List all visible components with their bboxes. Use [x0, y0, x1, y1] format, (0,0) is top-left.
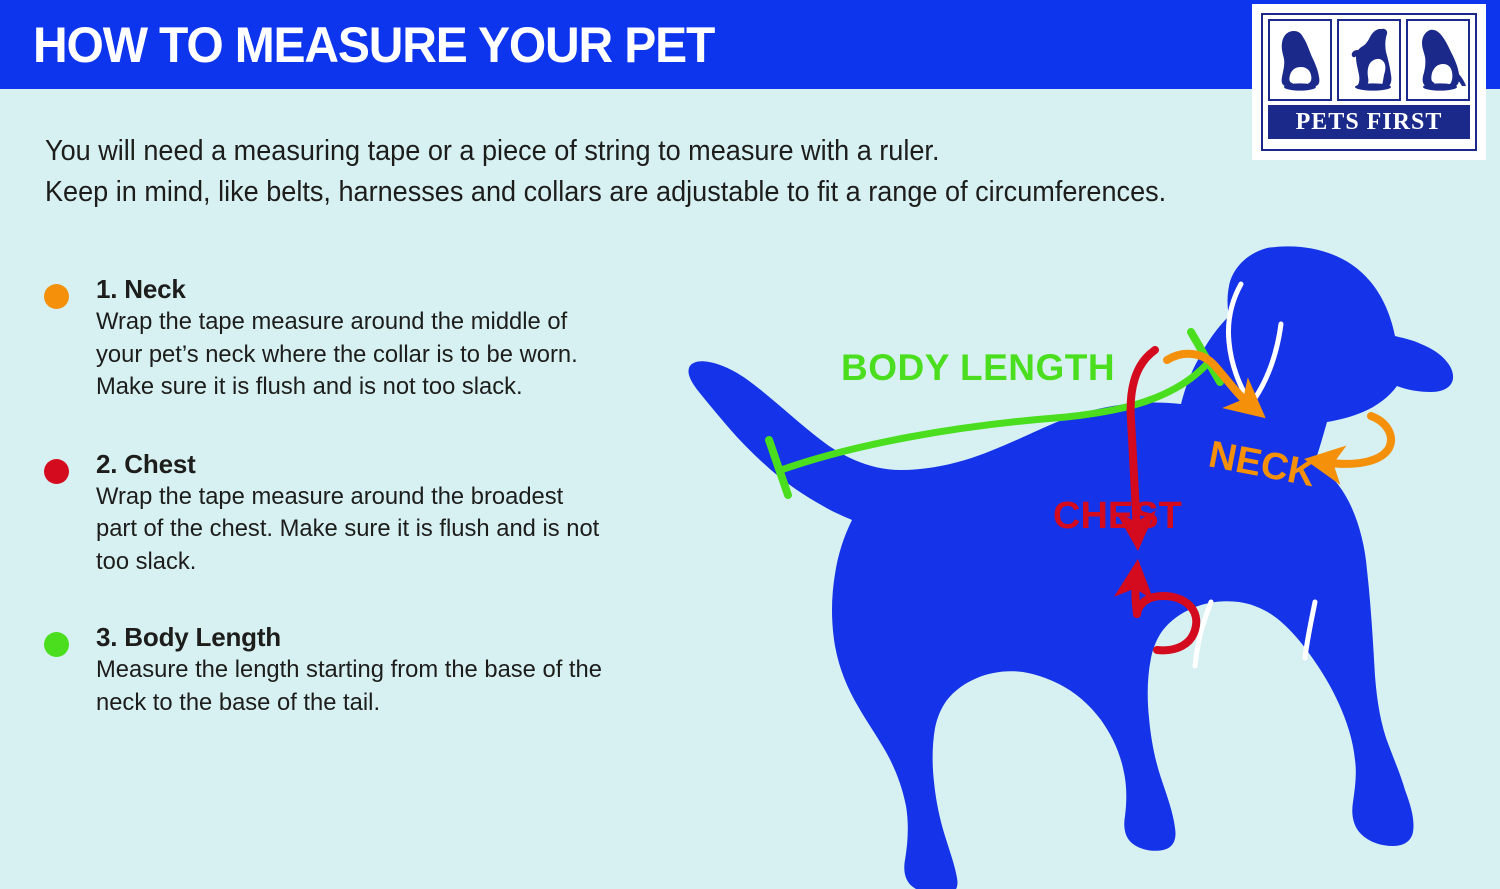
- label-body-length: BODY LENGTH: [841, 347, 1115, 388]
- step-body-line: Measure the length starting from the bas…: [96, 654, 682, 687]
- step-title-neck: 1. Neck: [96, 272, 700, 306]
- step-chest: 2. Chest Wrap the tape measure around th…: [40, 447, 700, 579]
- intro-line-1: You will need a measuring tape or a piec…: [45, 131, 1271, 172]
- brand-logo: PETS FIRST: [1252, 4, 1486, 160]
- step-body-line: part of the chest. Make sure it is flush…: [96, 513, 682, 546]
- intro-line-2: Keep in mind, like belts, harnesses and …: [45, 172, 1271, 213]
- step-body-neck: Wrap the tape measure around the middle …: [96, 306, 682, 404]
- step-title-body-length: 3. Body Length: [96, 620, 700, 654]
- logo-brand-text: PETS FIRST: [1268, 105, 1470, 139]
- step-bullet-neck: [44, 284, 69, 309]
- infographic-page: HOW TO MEASURE YOUR PET: [0, 0, 1500, 889]
- step-body-line: Make sure it is flush and is not too sla…: [96, 371, 682, 404]
- step-body-line: too slack.: [96, 546, 682, 579]
- intro-text: You will need a measuring tape or a piec…: [45, 131, 1271, 213]
- logo-frame: PETS FIRST: [1261, 13, 1477, 151]
- step-bullet-chest: [44, 459, 69, 484]
- step-body-line: Wrap the tape measure around the middle …: [96, 306, 682, 339]
- step-body-line: your pet’s neck where the collar is to b…: [96, 339, 682, 372]
- dog-silhouette: [688, 246, 1453, 889]
- step-title-chest: 2. Chest: [96, 447, 700, 481]
- step-neck: 1. Neck Wrap the tape measure around the…: [40, 272, 700, 404]
- step-body-chest: Wrap the tape measure around the broades…: [96, 481, 682, 579]
- step-body-line: neck to the base of the tail.: [96, 687, 682, 720]
- step-body-line: Wrap the tape measure around the broades…: [96, 481, 682, 514]
- dog-standing-icon: [1406, 19, 1470, 101]
- step-body-body-length: Measure the length starting from the bas…: [96, 654, 682, 719]
- dog-measurement-diagram: BODY LENGTH NECK CHEST: [655, 240, 1500, 889]
- steps-list: 1. Neck Wrap the tape measure around the…: [40, 272, 700, 719]
- logo-icon-row: [1268, 19, 1470, 101]
- label-chest: CHEST: [1053, 495, 1182, 537]
- step-bullet-body-length: [44, 632, 69, 657]
- dog-sitting-icon: [1268, 19, 1332, 101]
- step-body-length: 3. Body Length Measure the length starti…: [40, 620, 700, 719]
- dog-begging-icon: [1337, 19, 1401, 101]
- page-title: HOW TO MEASURE YOUR PET: [33, 16, 714, 74]
